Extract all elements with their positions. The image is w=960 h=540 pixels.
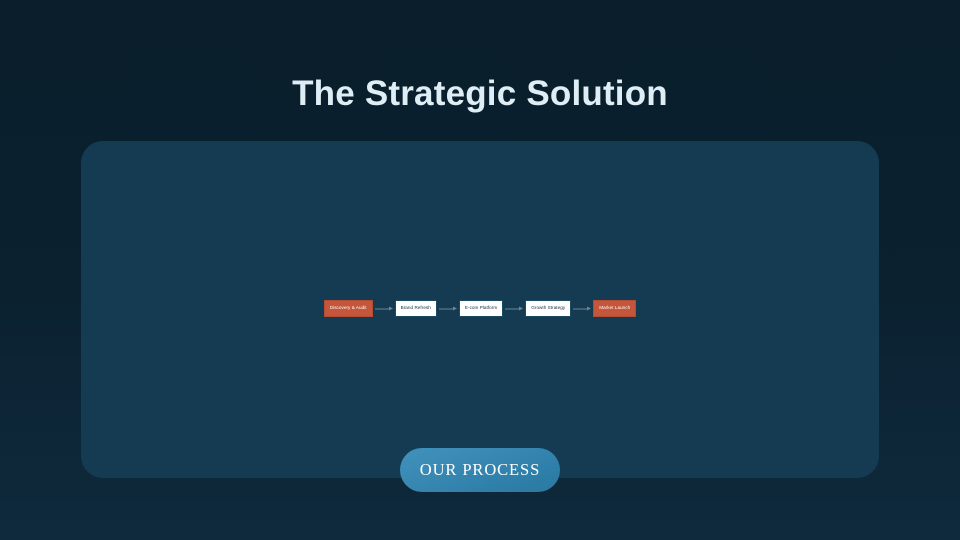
flow-node-ecom-platform[interactable]: E-com Platform <box>459 300 503 317</box>
flow-node-label: Brand Refresh <box>401 306 431 311</box>
flow-arrow-icon <box>503 300 525 317</box>
our-process-button[interactable]: OUR PROCESS <box>400 448 560 492</box>
diagram-card: Discovery & Audit Brand Refresh E-com Pl… <box>81 141 879 478</box>
flow-arrow-icon <box>571 300 593 317</box>
flow-node-label: Discovery & Audit <box>330 306 367 311</box>
flow-node-label: E-com Platform <box>465 306 497 311</box>
flowchart: Discovery & Audit Brand Refresh E-com Pl… <box>81 300 879 317</box>
flow-node-market-launch[interactable]: Market Launch <box>593 300 636 317</box>
flow-arrow-icon <box>437 300 459 317</box>
flow-node-label: Growth Strategy <box>531 306 565 311</box>
flow-node-growth-strategy[interactable]: Growth Strategy <box>525 300 571 317</box>
slide-canvas: The Strategic Solution Discovery & Audit… <box>0 0 960 540</box>
flow-node-brand-refresh[interactable]: Brand Refresh <box>395 300 437 317</box>
page-title: The Strategic Solution <box>0 75 960 114</box>
flow-node-discovery-audit[interactable]: Discovery & Audit <box>324 300 373 317</box>
flow-node-label: Market Launch <box>599 306 630 311</box>
flow-arrow-icon <box>373 300 395 317</box>
